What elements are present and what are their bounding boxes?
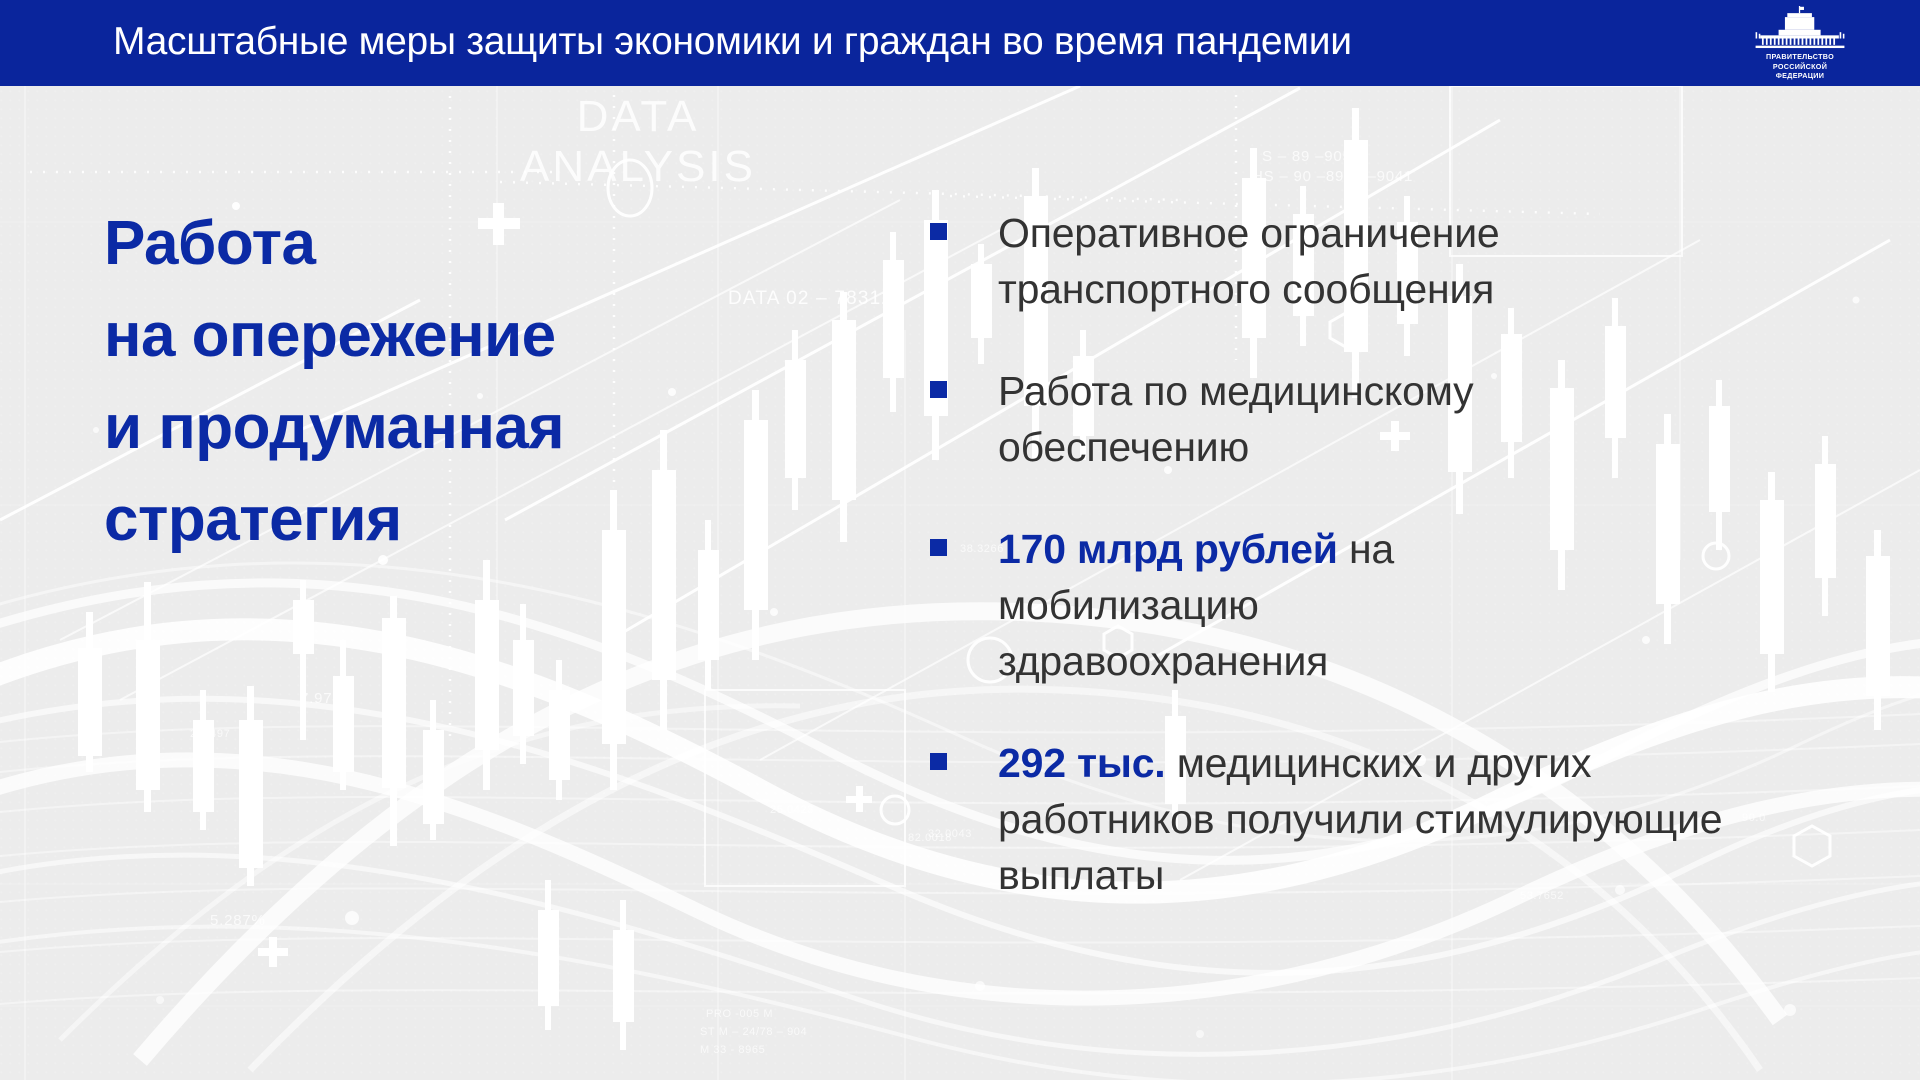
headline-line-3: и продуманная [104,382,804,474]
headline-block: Работа на опережение и продуманная страт… [104,198,804,566]
square-bullet-icon [930,381,947,398]
headline-line-2: на опережение [104,290,804,382]
square-bullet-icon [930,539,947,556]
list-item: 170 млрд рублей на мобилизацию здравоохр… [930,521,1830,689]
bullet-highlight-3: 170 млрд рублей [998,526,1338,572]
list-item: Оперативное ограничение транспортного со… [930,205,1830,317]
government-building-icon [1752,6,1848,52]
headline-line-4: стратегия [104,474,804,566]
list-item: 292 тыс. медицинских и других работников… [930,735,1830,903]
bullet-text-4: 292 тыс. медицинских и других работников… [998,735,1738,903]
government-logo: ПРАВИТЕЛЬСТВО РОССИЙСКОЙ ФЕДЕРАЦИИ [1752,6,1848,84]
square-bullet-icon [930,223,947,240]
header-bar: Масштабные меры защиты экономики и гражд… [0,0,1920,86]
logo-line-3: ФЕДЕРАЦИИ [1776,72,1824,81]
bullet-rest-2: Работа по медицинскому обеспечению [998,368,1473,470]
bullet-list: Оперативное ограничение транспортного со… [930,205,1830,903]
slide: DATA ANALYSIS DATA 02 – 78312 S – 89 –90… [0,0,1920,1080]
square-bullet-icon [930,753,947,770]
bullet-rest-1: Оперативное ограничение транспортного со… [998,210,1500,312]
bullet-text-2: Работа по медицинскому обеспечению [998,363,1618,475]
page-title: Масштабные меры защиты экономики и гражд… [113,20,1352,64]
headline-line-1: Работа [104,198,804,290]
list-item: Работа по медицинскому обеспечению [930,363,1830,475]
logo-line-1: ПРАВИТЕЛЬСТВО [1766,53,1834,62]
bullet-text-1: Оперативное ограничение транспортного со… [998,205,1738,317]
bullet-text-3: 170 млрд рублей на мобилизацию здравоохр… [998,521,1468,689]
bullet-highlight-4: 292 тыс. [998,740,1166,786]
logo-line-2: РОССИЙСКОЙ [1773,63,1827,72]
